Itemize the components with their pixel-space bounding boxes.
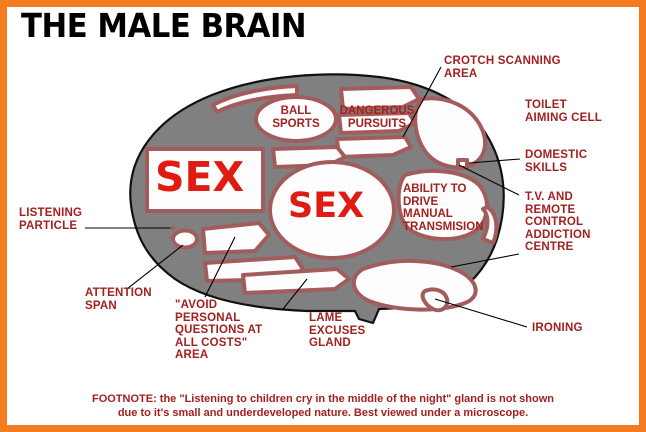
leader-ironing: [435, 299, 527, 327]
callout-toilet-aiming-cell: TOILET AIMING CELL: [525, 99, 602, 124]
callout-ironing: IRONING: [532, 322, 583, 335]
label-ability-to-drive: ABILITY TO DRIVE MANUAL TRANSMISION: [403, 183, 495, 233]
region-lame-excuses-gland: [243, 269, 349, 293]
region-avoid-questions-upper: [203, 223, 269, 253]
region-cerebellum: [354, 261, 476, 310]
callout-crotch-scanning-area: CROTCH SCANNING AREA: [444, 55, 561, 80]
footnote: FOOTNOTE: the "Listening to children cry…: [7, 393, 639, 420]
callout-attention-span: ATTENTION SPAN: [85, 287, 152, 312]
label-dangerous-pursuits: DANGEROUS PURSUITS: [329, 105, 425, 130]
region-attention-span: [173, 231, 197, 248]
callout-avoid-personal-questions: "AVOID PERSONAL QUESTIONS AT ALL COSTS" …: [175, 299, 262, 362]
region-dangerous-pursuits-low: [337, 137, 411, 157]
male-brain-poster: THE MALE BRAIN: [0, 0, 646, 432]
callout-tv-remote-addiction: T.V. AND REMOTE CONTROL ADDICTION CENTRE: [525, 191, 591, 254]
label-ball-sports: BALL SPORTS: [265, 105, 327, 130]
label-sex-box: SEX: [155, 157, 244, 198]
callout-domestic-skills: DOMESTIC SKILLS: [525, 149, 587, 174]
listening-particle-dot: [171, 226, 176, 231]
label-sex-oval: SEX: [288, 189, 364, 224]
callout-listening-particle: LISTENING PARTICLE: [19, 207, 82, 232]
callout-lame-excuses-gland: LAME EXCUSES GLAND: [309, 312, 365, 350]
